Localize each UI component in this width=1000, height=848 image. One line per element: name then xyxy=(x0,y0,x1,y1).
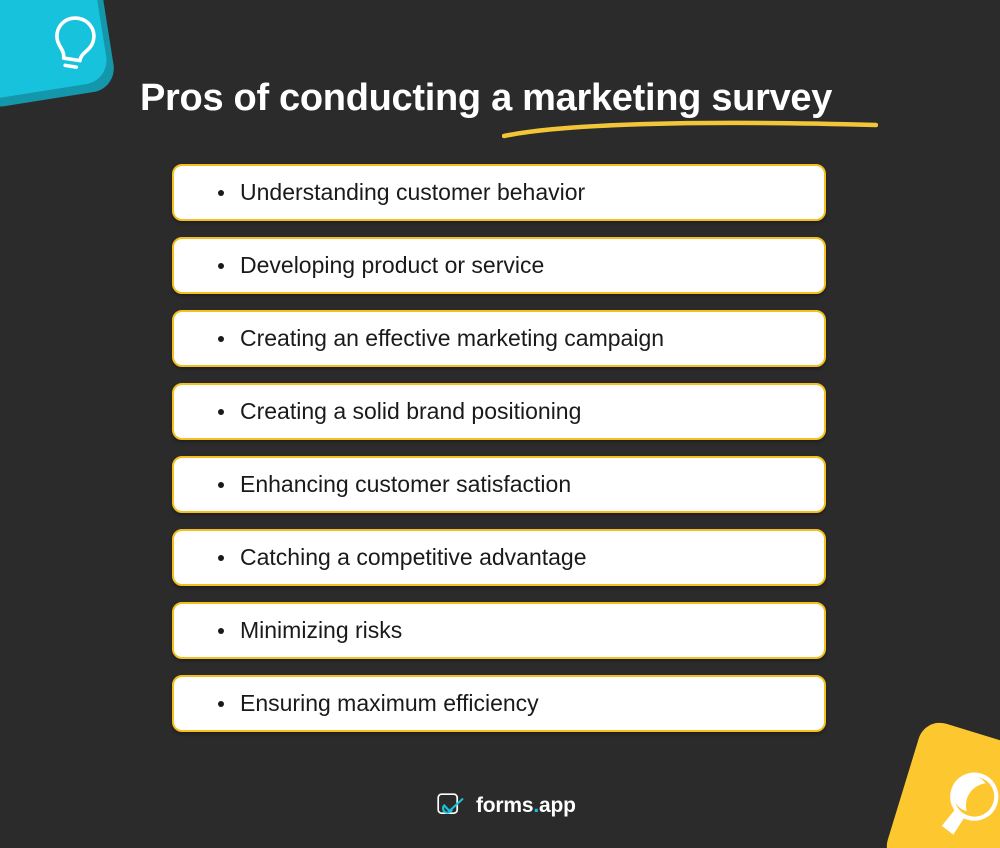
list-item-label: Developing product or service xyxy=(240,252,544,279)
bullet-dot-icon xyxy=(218,190,224,196)
list-item[interactable]: Creating a solid brand positioning xyxy=(172,383,826,440)
page-title-container: Pros of conducting a marketing survey xyxy=(140,74,900,146)
list-item[interactable]: Catching a competitive advantage xyxy=(172,529,826,586)
list-item-label: Creating an effective marketing campaign xyxy=(240,325,664,352)
forms-app-check-icon xyxy=(436,791,466,821)
list-item[interactable]: Creating an effective marketing campaign xyxy=(172,310,826,367)
bullet-dot-icon xyxy=(218,482,224,488)
bullet-dot-icon xyxy=(218,701,224,707)
list-item-label: Ensuring maximum efficiency xyxy=(240,690,539,717)
infographic-canvas: Pros of conducting a marketing survey Un… xyxy=(0,0,1000,848)
list-item[interactable]: Developing product or service xyxy=(172,237,826,294)
bullet-dot-icon xyxy=(218,263,224,269)
bullet-dot-icon xyxy=(218,628,224,634)
bullet-dot-icon xyxy=(218,409,224,415)
list-item[interactable]: Ensuring maximum efficiency xyxy=(172,675,826,732)
list-item-label: Enhancing customer satisfaction xyxy=(240,471,571,498)
lightbulb-icon xyxy=(43,10,104,79)
page-title: Pros of conducting a marketing survey xyxy=(140,74,900,122)
bullet-dot-icon xyxy=(218,555,224,561)
brand-name: forms.app xyxy=(476,794,576,818)
bullet-dot-icon xyxy=(218,336,224,342)
list-item-label: Catching a competitive advantage xyxy=(240,544,587,571)
list-item[interactable]: Enhancing customer satisfaction xyxy=(172,456,826,513)
brand-name-text: forms xyxy=(476,794,533,817)
list-item-label: Creating a solid brand positioning xyxy=(240,398,581,425)
list-item[interactable]: Understanding customer behavior xyxy=(172,164,826,221)
list-item-label: Minimizing risks xyxy=(240,617,402,644)
list-item[interactable]: Minimizing risks xyxy=(172,602,826,659)
brand-logo[interactable]: forms.app xyxy=(436,791,576,821)
pros-list: Understanding customer behavior Developi… xyxy=(172,164,826,732)
brand-suffix-text: app xyxy=(539,794,576,817)
list-item-label: Understanding customer behavior xyxy=(240,179,585,206)
